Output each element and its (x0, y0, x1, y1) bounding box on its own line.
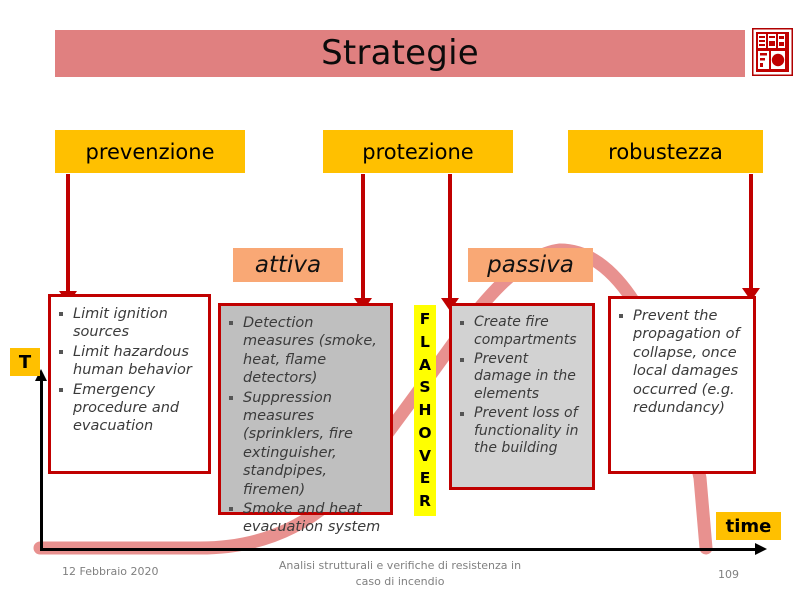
flashover-letter: S (414, 376, 436, 399)
list-item: Suppression measures (sprinklers, fire e… (227, 389, 384, 499)
content-box-passiva: Create fire compartments Prevent damage … (449, 303, 595, 490)
header-protezione: protezione (323, 130, 513, 173)
list-item: Prevent loss of functionality in the bui… (458, 405, 586, 458)
header-prevenzione: prevenzione (55, 130, 245, 173)
x-axis-arrow-icon (40, 548, 755, 551)
list-item: Prevent damage in the elements (458, 351, 586, 404)
x-axis-label: time (716, 512, 781, 540)
flashover-letter: V (414, 445, 436, 468)
header-protezione-label: protezione (362, 140, 473, 164)
list-item: Detection measures (smoke, heat, flame d… (227, 314, 384, 388)
content-box-robustezza: Prevent the propagation of collapse, onc… (608, 296, 756, 474)
footer-date: 12 Febbraio 2020 (62, 565, 159, 578)
flashover-letter: L (414, 331, 436, 354)
list-item: Limit ignition sources (57, 305, 202, 342)
footer-subtitle-line2: caso di incendio (240, 574, 560, 590)
bullet-list-attiva: Detection measures (smoke, heat, flame d… (227, 314, 384, 537)
arrow-robustezza-icon (749, 174, 753, 289)
footer-subtitle-line1: Analisi strutturali e verifiche di resis… (240, 558, 560, 574)
arrow-protezione-passiva-icon (448, 174, 452, 299)
content-box-attiva: Detection measures (smoke, heat, flame d… (218, 303, 393, 515)
header-robustezza-label: robustezza (608, 140, 723, 164)
flashover-marker: F L A S H O V E R (414, 305, 436, 516)
bullet-list-prevenzione: Limit ignition sources Limit hazardous h… (57, 305, 202, 436)
list-item: Limit hazardous human behavior (57, 343, 202, 380)
header-prevenzione-label: prevenzione (85, 140, 214, 164)
footer-subtitle: Analisi strutturali e verifiche di resis… (240, 558, 560, 590)
sublabel-attiva: attiva (233, 248, 343, 282)
flashover-letter: O (414, 422, 436, 445)
footer-page-number: 109 (718, 568, 739, 581)
sublabel-attiva-label: attiva (255, 252, 321, 278)
list-item: Prevent the propagation of collapse, onc… (617, 307, 747, 417)
y-axis-arrow-icon (40, 380, 43, 550)
flashover-letter: E (414, 467, 436, 490)
list-item: Smoke and heat evacuation system (227, 500, 384, 537)
arrow-protezione-attiva-icon (361, 174, 365, 299)
list-item: Emergency procedure and evacuation (57, 381, 202, 436)
sublabel-passiva-label: passiva (487, 252, 574, 278)
flashover-letter: A (414, 354, 436, 377)
bullet-list-passiva: Create fire compartments Prevent damage … (458, 314, 586, 458)
page-title: Strategie (55, 30, 745, 77)
y-axis-label: T (10, 348, 40, 376)
arrow-prevenzione-icon (66, 174, 70, 292)
list-item: Create fire compartments (458, 314, 586, 350)
content-box-prevenzione: Limit ignition sources Limit hazardous h… (48, 294, 211, 474)
flashover-letter: H (414, 399, 436, 422)
slide-canvas: Strategie prevenzione (0, 0, 800, 600)
header-robustezza: robustezza (568, 130, 763, 173)
flashover-letter: R (414, 490, 436, 513)
flashover-letter: F (414, 308, 436, 331)
sublabel-passiva: passiva (468, 248, 593, 282)
bullet-list-robustezza: Prevent the propagation of collapse, onc… (617, 307, 747, 417)
fb-seal-logo-icon (752, 28, 793, 76)
